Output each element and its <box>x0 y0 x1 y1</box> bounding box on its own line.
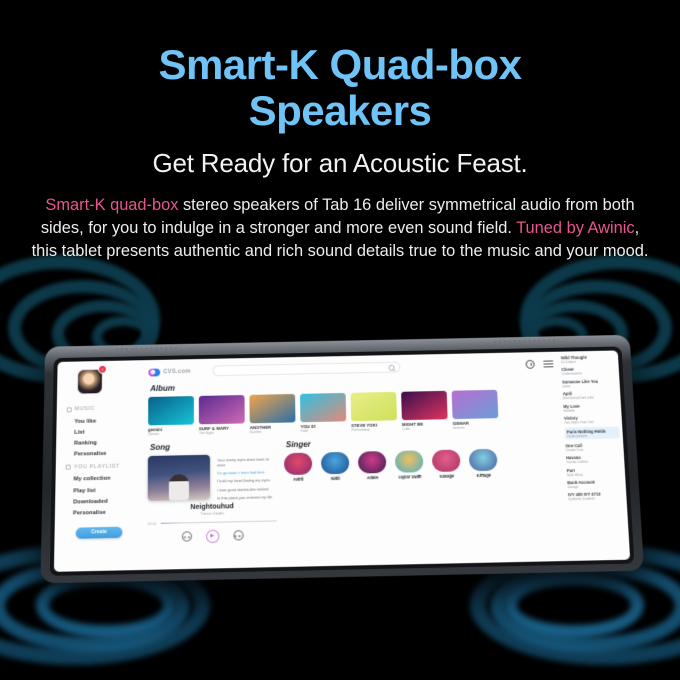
rail-track-artist: Charlie Puth <box>566 447 621 452</box>
rail-track-artist: Two Steps From Hell <box>564 420 619 425</box>
lower-content: Song Your lonely eyes stare back at mine… <box>147 434 563 567</box>
singer-section: Singer AvirilNidilAdeleTaylor SwiftSavag… <box>284 434 563 564</box>
song-meta: Neightouhud Trevor Death <box>148 502 277 517</box>
create-button[interactable]: Create <box>76 526 123 538</box>
notification-badge: 2 <box>98 365 107 374</box>
rail-track-artist: Synthetic Soulfield <box>568 496 623 501</box>
song-title: Neightouhud <box>148 502 277 512</box>
album-subtitle: Gemini <box>148 431 194 436</box>
progress-bar[interactable]: 00:43 <box>148 519 277 526</box>
hero-header: Smart-K Quad-box Speakers Get Ready for … <box>0 42 680 263</box>
rail-track-item[interactable]: CloserChainsmokers <box>561 366 616 376</box>
hamburger-icon[interactable] <box>543 360 553 367</box>
album-subtitle: The Night <box>199 430 245 435</box>
singer-section-title: Singer <box>286 435 558 450</box>
rail-track-artist: Chainsmokers <box>562 371 617 376</box>
rail-track-item[interactable]: Bank AccountSavage <box>567 479 623 489</box>
next-icon[interactable]: ►► <box>233 530 243 540</box>
tablet-bezel: 2 MUSIC You like List Ranking Personalis… <box>50 347 635 577</box>
album-card[interactable]: YOU DIField <box>300 393 346 433</box>
app-topbar: CVS.com <box>148 359 553 378</box>
album-cover-art <box>452 390 499 419</box>
music-icon <box>67 407 72 412</box>
tablet-screen: 2 MUSIC You like List Ranking Personalis… <box>54 350 630 571</box>
rail-track-item[interactable]: Paris Nothing HoldsChainsmokers <box>565 427 620 440</box>
singer-card[interactable]: Savage <box>432 450 461 479</box>
album-subtitle: Sunrise <box>250 429 296 434</box>
playlist-icon <box>66 465 71 470</box>
singer-avatar <box>358 451 387 473</box>
rail-track-item[interactable]: IVY 400 IVY 4713Synthetic Soulfield <box>568 491 624 501</box>
song-section: Song Your lonely eyes stare back at mine… <box>147 440 277 567</box>
avatar[interactable]: 2 <box>77 369 103 395</box>
logo-icon <box>148 368 160 376</box>
singer-name: Savage <box>433 473 461 479</box>
search-icon <box>388 364 394 370</box>
rail-track-title: Havana <box>566 454 621 460</box>
singer-avatar <box>469 449 498 471</box>
app-main: CVS.com Album geminiGeminiSURF & MARYThe… <box>141 352 567 570</box>
album-subtitle: Field <box>301 428 347 433</box>
song-section-title: Song <box>150 441 276 453</box>
album-card[interactable]: STEVE YOKIPhenomena <box>351 392 398 432</box>
rail-track-artist: Chainsmokers <box>567 433 618 438</box>
rail-track-artist: DJ Khaled <box>561 359 615 364</box>
page-title-line-1: Smart-K Quad-box <box>0 42 680 88</box>
album-card[interactable]: SURF & MARYThe Night <box>199 395 245 435</box>
sidebar-item-ranking[interactable]: Ranking <box>64 438 136 449</box>
sidebar-item-you-like[interactable]: You like <box>64 416 136 427</box>
rail-track-item[interactable]: Wild ThoughtDJ Khaled <box>561 354 616 364</box>
progress-track[interactable] <box>160 520 277 524</box>
highlight-text-2: Tuned by Awinic <box>516 219 634 237</box>
sidebar-item-list[interactable]: List <box>64 427 136 438</box>
player-controls: ◄◄ ▶ ►► <box>148 528 278 544</box>
lyric-line: In this place,you entered my life <box>217 494 276 500</box>
lyric-line: Your lonely eyes stare back at mine <box>217 456 276 467</box>
description-paragraph: Smart-K quad-box stereo speakers of Tab … <box>27 194 653 263</box>
album-list: geminiGeminiSURF & MARYThe NightANOTHERS… <box>148 389 556 437</box>
page-title-line-2: Speakers <box>0 88 680 134</box>
album-card[interactable]: ANOTHERSunrise <box>249 394 295 434</box>
album-card[interactable]: GEMARMoreno <box>452 390 499 430</box>
sidebar-section-label: MUSIC <box>75 406 95 412</box>
rail-track-title: IVY 400 IVY 4713 <box>568 491 624 497</box>
song-artist: Trevor Death <box>148 509 277 517</box>
sidebar-item-personalise[interactable]: Personalise <box>64 449 136 460</box>
rail-track-artist: Bad Bunny/Carti artist <box>563 395 618 400</box>
album-cover-art <box>148 396 194 425</box>
album-card[interactable]: geminiGemini <box>148 396 194 436</box>
lyric-line: I lose good stories,lies behind <box>217 486 276 492</box>
sidebar-section-label: YOU PLAYLIST <box>74 463 120 470</box>
rail-track-item[interactable]: Someone Like YouAdele <box>562 378 617 388</box>
logo-text: CVS.com <box>163 368 190 374</box>
sidebar-section-playlist: YOU PLAYLIST <box>66 463 136 470</box>
album-subtitle: Phenomena <box>351 427 397 432</box>
singer-avatar <box>395 450 424 472</box>
app-sidebar: 2 MUSIC You like List Ranking Personalis… <box>54 360 143 572</box>
sidebar-item-downloaded[interactable]: Downloaded <box>63 496 136 507</box>
app-logo: CVS.com <box>148 367 190 376</box>
track-rail: Wild ThoughtDJ KhaledCloserChainsmokersS… <box>557 350 631 561</box>
highlight-text-1: Smart-K quad-box <box>45 196 178 214</box>
sidebar-item-play-list[interactable]: Play list <box>63 485 135 496</box>
album-card[interactable]: MIGHT BELotte <box>401 391 448 431</box>
tablet-device: 2 MUSIC You like List Ranking Personalis… <box>40 335 644 584</box>
album-subtitle: Lotte <box>402 426 448 431</box>
previous-icon[interactable]: ◄◄ <box>181 532 191 542</box>
singer-list: AvirilNidilAdeleTaylor SwiftSavageKittag… <box>284 448 559 483</box>
sidebar-item-personalise-2[interactable]: Personalise <box>63 508 136 519</box>
rail-track-item[interactable]: AprilBad Bunny/Carti artist <box>563 390 618 400</box>
album-cover-art <box>401 391 448 420</box>
album-cover-art <box>199 395 245 424</box>
clock-icon[interactable] <box>525 360 534 369</box>
album-subtitle: Moreno <box>453 425 499 430</box>
page-title: Smart-K Quad-box Speakers <box>0 42 680 134</box>
elapsed-time: 00:43 <box>148 522 157 526</box>
ripple-arc <box>504 572 644 638</box>
rail-track-title: Bank Account <box>567 479 622 485</box>
album-cover-art <box>249 394 295 423</box>
page-subtitle: Get Ready for an Acoustic Feast. <box>0 148 680 178</box>
topbar-icons <box>525 360 553 369</box>
rail-track-artist: Nicki Minaj <box>567 472 622 477</box>
play-icon[interactable]: ▶ <box>206 529 219 542</box>
rail-track-artist: Westlife <box>564 407 619 412</box>
rail-track-item[interactable]: My LoveWestlife <box>563 403 618 413</box>
rail-track-item[interactable]: One CallCharlie Puth <box>565 442 620 452</box>
search-input[interactable] <box>212 362 400 377</box>
album-cover-art <box>351 392 397 421</box>
singer-name: Adele <box>358 475 386 481</box>
singer-name: Nidil <box>321 476 349 482</box>
album-cover-art <box>300 393 346 422</box>
sidebar-section-music: MUSIC <box>67 405 137 412</box>
promo-banner: Smart-K Quad-box Speakers Get Ready for … <box>0 0 680 680</box>
rail-track-artist: Savage <box>568 484 623 489</box>
rail-track-item[interactable]: VictoryTwo Steps From Hell <box>564 415 619 425</box>
